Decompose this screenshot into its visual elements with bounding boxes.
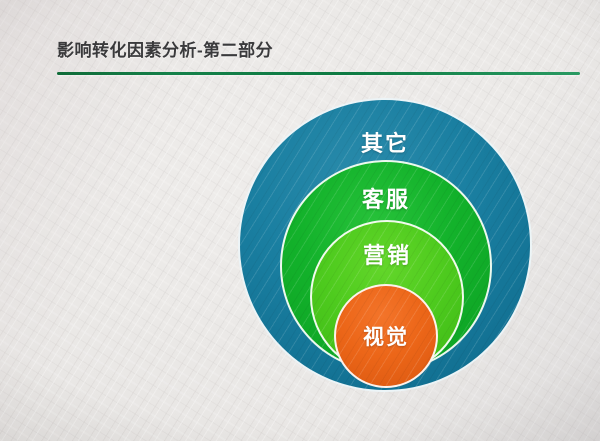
title-divider-rule <box>57 72 580 75</box>
page-title: 影响转化因素分析-第二部分 <box>57 39 273 63</box>
circle-ring-visual: 视觉 <box>334 284 438 388</box>
slide-photo: 影响转化因素分析-第二部分 其它 客服 营销 视觉 <box>0 0 600 441</box>
nested-circles-diagram: 其它 客服 营销 视觉 <box>232 92 538 398</box>
circle-label-visual: 视觉 <box>363 321 409 351</box>
